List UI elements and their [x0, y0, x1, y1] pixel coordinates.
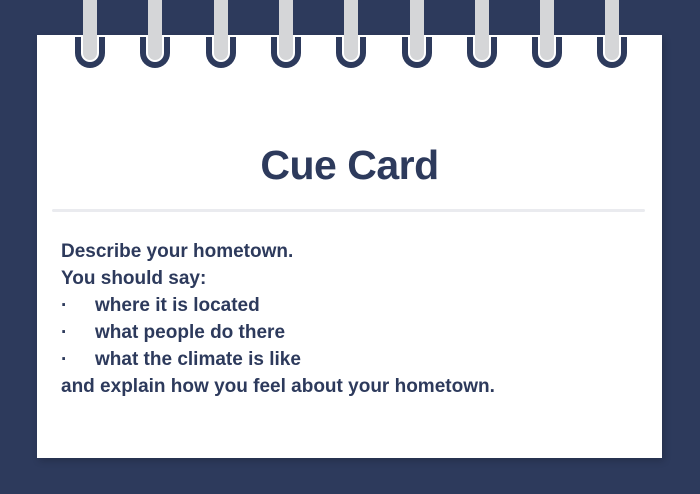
bullet-dot-icon: ·: [61, 319, 95, 346]
cue-card-stage: Cue Card Describe your hometown. You sho…: [0, 0, 700, 494]
page-title: Cue Card: [37, 143, 662, 188]
list-item-label: what the climate is like: [95, 349, 301, 370]
title-divider: [52, 209, 645, 212]
list-item-label: where it is located: [95, 295, 260, 316]
list-item: ·what people do there: [61, 319, 641, 346]
list-item: ·what the climate is like: [61, 346, 641, 373]
list-item: ·where it is located: [61, 292, 641, 319]
prompt-line-1: Describe your hometown.: [61, 238, 641, 265]
bullet-dot-icon: ·: [61, 346, 95, 373]
closing-line: and explain how you feel about your home…: [61, 373, 641, 400]
bullet-dot-icon: ·: [61, 292, 95, 319]
prompt-line-2: You should say:: [61, 265, 641, 292]
cue-card-sheet: Cue Card Describe your hometown. You sho…: [37, 35, 662, 458]
cue-card-body: Describe your hometown. You should say: …: [61, 238, 641, 400]
list-item-label: what people do there: [95, 322, 285, 343]
